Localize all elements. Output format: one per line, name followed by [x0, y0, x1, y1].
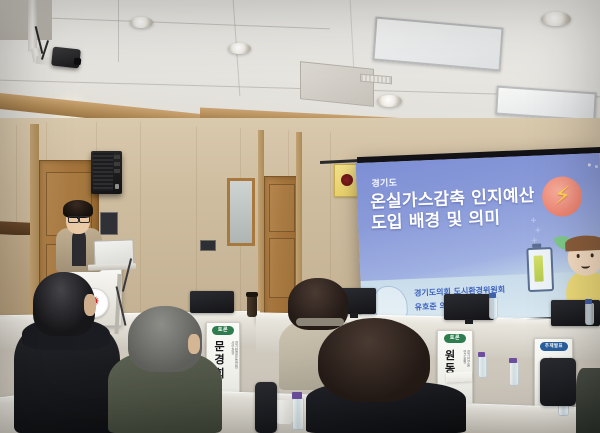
monitor-stand — [465, 319, 473, 324]
battery-fill — [534, 255, 544, 281]
light-switch — [200, 240, 216, 251]
conference-room-photo: 경기도 온실가스감축 인지예산 도입 배경 및 의미 경기도의회 도시환경위원회… — [0, 0, 600, 433]
audience-ear — [188, 334, 200, 354]
placard-header: 주제발표 — [540, 342, 568, 351]
desktop-monitor — [444, 294, 494, 320]
speaker-detail — [114, 162, 120, 166]
placard-affiliation: 경기환경운동연합 사무처장 — [229, 341, 237, 368]
energy-circle-icon: ⚡ — [541, 176, 583, 218]
water-bottle — [478, 356, 487, 378]
bottle-cap — [292, 392, 302, 399]
paper-handout — [446, 371, 472, 382]
crest-emblem-icon — [341, 174, 353, 186]
placard-name-char: 원 — [441, 349, 459, 362]
decor-dot — [595, 165, 598, 168]
wall-trim-band — [0, 221, 30, 236]
downlight-icon — [541, 12, 571, 26]
bottle-cap — [585, 299, 592, 304]
tumbler-lid — [246, 292, 258, 297]
downlight-icon — [377, 95, 402, 107]
bottle-cap — [478, 352, 485, 357]
speaker-grill — [93, 153, 113, 191]
audience-partial-right — [576, 368, 600, 433]
desktop-monitor — [190, 291, 234, 313]
ceiling-seam — [118, 0, 119, 62]
speaker-logo — [115, 184, 119, 189]
water-bottle — [292, 398, 304, 430]
room-number-sign — [100, 212, 118, 235]
jacket-collar — [296, 318, 344, 326]
speaker-detail — [114, 169, 120, 173]
door-panel — [269, 184, 295, 232]
door-panel — [269, 238, 295, 298]
presenter-glasses — [79, 216, 90, 223]
chair — [540, 358, 576, 406]
wall-panel-seam — [140, 122, 141, 312]
battery-icon — [526, 247, 554, 292]
bottle-cap — [509, 358, 517, 363]
mascot-eye — [591, 253, 594, 257]
mascot-eye — [577, 254, 580, 258]
placard-affiliation: 경기연구원 연구위원 — [460, 350, 469, 367]
spark-icon: + — [530, 218, 537, 225]
downlight-icon — [228, 43, 251, 54]
wall-mounted-speaker — [91, 151, 122, 194]
decor-dot — [588, 163, 591, 166]
placard-name-char: 문 — [211, 340, 228, 353]
water-bottle — [489, 297, 498, 319]
speaker-detail — [114, 155, 120, 159]
projector-lens-icon — [74, 58, 82, 66]
bottle-cap — [489, 293, 496, 298]
paper-cup — [276, 400, 293, 424]
ceiling-structure — [0, 0, 52, 40]
slide-kicker: 경기도 — [371, 175, 397, 189]
lightning-bolt-icon: ⚡ — [554, 183, 572, 208]
glasses-bridge — [77, 218, 79, 219]
mascot-hair — [565, 235, 600, 252]
presenter-inner-top — [72, 232, 86, 266]
audience-yellow-scarf-head — [318, 318, 430, 402]
audience-ear — [84, 294, 96, 316]
wall-panel-seam — [196, 126, 197, 316]
spark-icon: + — [534, 227, 541, 234]
slide-title-line2: 도입 배경 및 의미 — [371, 208, 501, 234]
ceiling-vent — [300, 61, 374, 107]
water-bottle — [509, 362, 519, 386]
monitor-stand — [350, 313, 358, 318]
placard-header: 토론 — [444, 334, 466, 343]
water-bottle — [585, 303, 594, 325]
travel-tumbler — [247, 296, 257, 317]
chair — [255, 382, 277, 433]
placard-header: 토론 — [212, 326, 234, 335]
downlight-icon — [130, 17, 153, 28]
door-window — [227, 178, 255, 246]
